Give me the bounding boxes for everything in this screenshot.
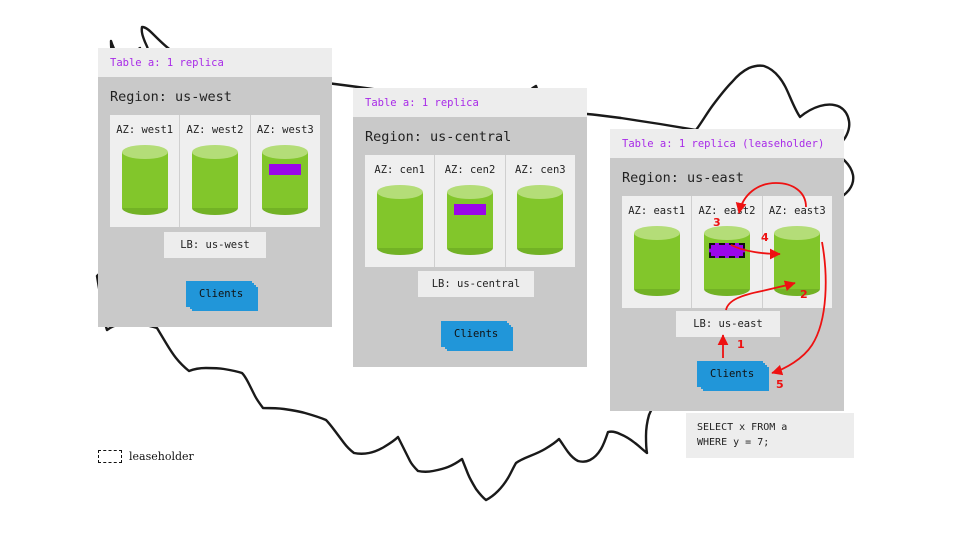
- az-row-us-west: AZ: west1 AZ: west2 AZ: west3: [110, 115, 320, 227]
- az-cell-west1[interactable]: AZ: west1: [110, 115, 180, 227]
- az-label-cen2: AZ: cen2: [435, 164, 504, 176]
- clients-button-us-central[interactable]: Clients: [441, 321, 507, 347]
- az-cell-east1[interactable]: AZ: east1: [622, 196, 692, 308]
- cylinder-top: [447, 185, 493, 199]
- node-cylinder-east2[interactable]: [704, 226, 750, 296]
- panel-title-us-east: Table a: 1 replica (leaseholder): [610, 129, 844, 158]
- cylinder-top: [774, 226, 820, 240]
- az-label-cen1: AZ: cen1: [365, 164, 434, 176]
- az-cell-west2[interactable]: AZ: west2: [180, 115, 250, 227]
- legend-label: leaseholder: [129, 450, 194, 463]
- dashed-rectangle-icon: [98, 450, 122, 463]
- arrow-label-3: 3: [713, 216, 721, 229]
- node-cylinder-east3[interactable]: [774, 226, 820, 296]
- replica-marker-cen2: [454, 204, 486, 215]
- region-label-us-central: Region: us-central: [353, 117, 587, 155]
- cylinder-top: [634, 226, 680, 240]
- cylinder-body: [377, 192, 423, 248]
- cylinder-body: [517, 192, 563, 248]
- az-cell-cen3[interactable]: AZ: cen3: [506, 155, 575, 267]
- cylinder-body: [192, 152, 238, 208]
- az-cell-cen1[interactable]: AZ: cen1: [365, 155, 435, 267]
- arrow-label-2: 2: [800, 288, 808, 301]
- legend-leaseholder: leaseholder: [98, 450, 194, 463]
- arrow-label-4: 4: [761, 231, 769, 244]
- cylinder-top: [122, 145, 168, 159]
- az-label-east2: AZ: east2: [692, 205, 761, 217]
- clients-stack-us-central[interactable]: Clients: [441, 321, 511, 351]
- clients-button-us-east[interactable]: Clients: [697, 361, 763, 387]
- az-cell-east2[interactable]: AZ: east2: [692, 196, 762, 308]
- replica-marker-west3: [269, 164, 301, 175]
- az-cell-cen2[interactable]: AZ: cen2: [435, 155, 505, 267]
- cylinder-body: [447, 192, 493, 248]
- leaseholder-replica-marker-east2: [709, 243, 745, 258]
- panel-title-us-central: Table a: 1 replica: [353, 88, 587, 117]
- cylinder-top: [377, 185, 423, 199]
- sql-query-box: SELECT x FROM a WHERE y = 7;: [686, 413, 854, 458]
- cylinder-body: [634, 233, 680, 289]
- clients-stack-us-west[interactable]: Clients: [186, 281, 256, 311]
- load-balancer-us-east[interactable]: LB: us-east: [676, 311, 780, 337]
- clients-button-us-west[interactable]: Clients: [186, 281, 252, 307]
- cylinder-top: [704, 226, 750, 240]
- az-label-west2: AZ: west2: [180, 124, 249, 136]
- node-cylinder-west1[interactable]: [122, 145, 168, 215]
- az-label-east3: AZ: east3: [763, 205, 832, 217]
- az-cell-west3[interactable]: AZ: west3: [251, 115, 320, 227]
- node-cylinder-west3[interactable]: [262, 145, 308, 215]
- cylinder-body: [262, 152, 308, 208]
- az-label-west3: AZ: west3: [251, 124, 320, 136]
- cylinder-top: [262, 145, 308, 159]
- arrow-label-5: 5: [776, 378, 784, 391]
- az-label-east1: AZ: east1: [622, 205, 691, 217]
- cylinder-body: [122, 152, 168, 208]
- az-label-west1: AZ: west1: [110, 124, 179, 136]
- arrow-label-1: 1: [737, 338, 745, 351]
- cylinder-top: [192, 145, 238, 159]
- load-balancer-us-west[interactable]: LB: us-west: [164, 232, 266, 258]
- cylinder-body: [704, 233, 750, 289]
- region-label-us-west: Region: us-west: [98, 77, 332, 115]
- node-cylinder-cen3[interactable]: [517, 185, 563, 255]
- node-cylinder-east1[interactable]: [634, 226, 680, 296]
- region-label-us-east: Region: us-east: [610, 158, 844, 196]
- az-cell-east3[interactable]: AZ: east3: [763, 196, 832, 308]
- node-cylinder-west2[interactable]: [192, 145, 238, 215]
- az-row-us-central: AZ: cen1 AZ: cen2 AZ: cen3: [365, 155, 575, 267]
- panel-title-us-west: Table a: 1 replica: [98, 48, 332, 77]
- clients-stack-us-east[interactable]: Clients: [697, 361, 767, 391]
- cylinder-body: [774, 233, 820, 289]
- node-cylinder-cen2[interactable]: [447, 185, 493, 255]
- az-label-cen3: AZ: cen3: [506, 164, 575, 176]
- node-cylinder-cen1[interactable]: [377, 185, 423, 255]
- load-balancer-us-central[interactable]: LB: us-central: [418, 271, 534, 297]
- cylinder-top: [517, 185, 563, 199]
